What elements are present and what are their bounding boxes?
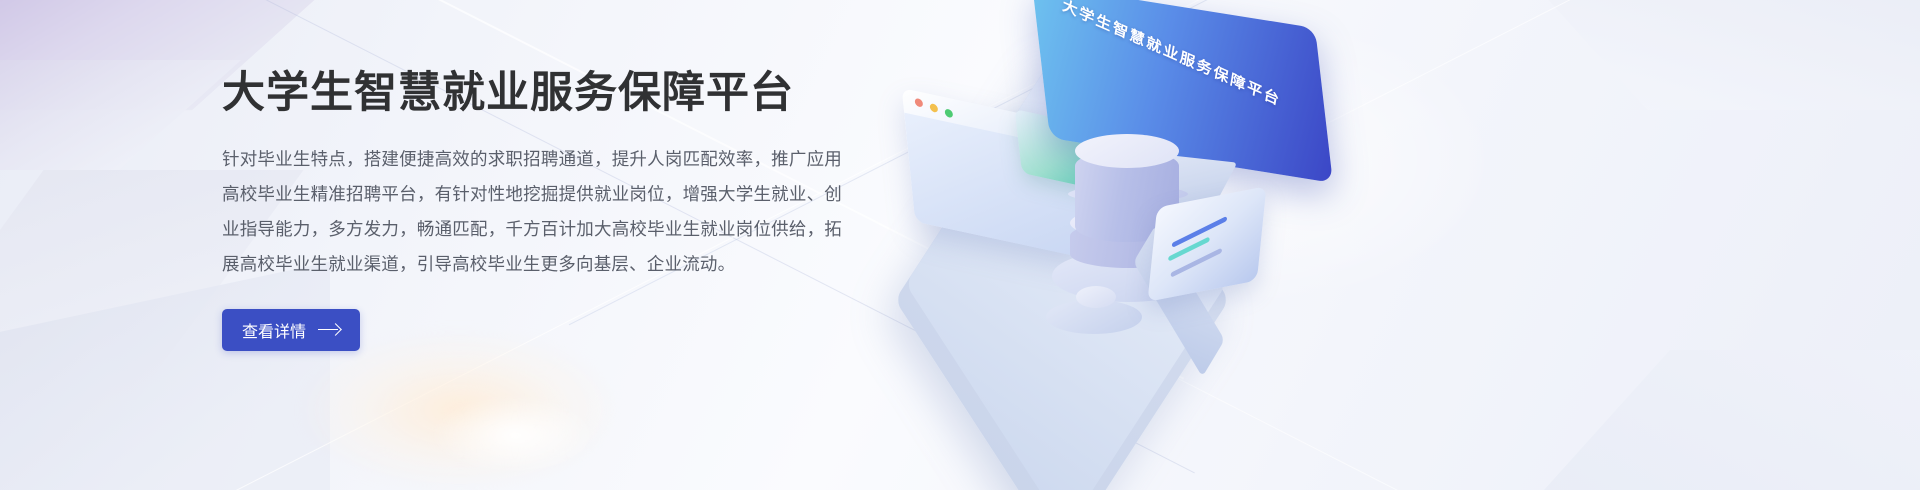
arrow-right-icon (318, 324, 340, 336)
banner-description: 针对毕业生特点，搭建便捷高效的求职招聘通道，提升人岗匹配效率，推广应用高校毕业生… (222, 142, 842, 282)
window-minimize-dot-icon (930, 103, 938, 114)
view-details-label: 查看详情 (242, 318, 306, 342)
decor-slab-left-mid (0, 60, 241, 170)
hero-illustration: 大学生智慧就业服务保障平台 (900, 0, 1380, 490)
decor-glow-highlight (430, 395, 600, 475)
illustration-pedestal-cap (1076, 286, 1116, 308)
hero-banner: 大学生智慧就业服务保障平台 针对毕业生特点，搭建便捷高效的求职招聘通道，提升人岗… (0, 0, 1920, 490)
illustration-cylinder-upper-top (1075, 134, 1179, 168)
monitor-screen-text: 大学生智慧就业服务保障平台 (1061, 0, 1311, 123)
view-details-button[interactable]: 查看详情 (222, 309, 360, 351)
banner-content: 大学生智慧就业服务保障平台 针对毕业生特点，搭建便捷高效的求职招聘通道，提升人岗… (222, 68, 862, 351)
page-title: 大学生智慧就业服务保障平台 (222, 68, 862, 120)
decor-slab-right-top (1512, 0, 1920, 110)
window-close-dot-icon (915, 97, 923, 108)
decor-slab-right-bottom (1490, 350, 1920, 490)
window-maximize-dot-icon (945, 108, 953, 119)
